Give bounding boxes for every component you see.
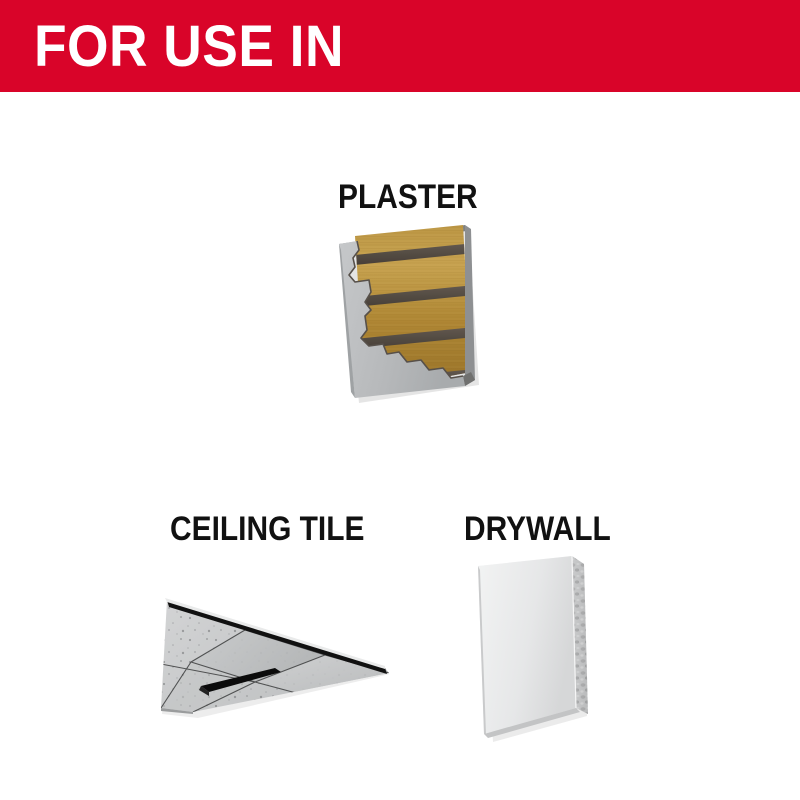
ceiling-tiles-group [135, 570, 400, 715]
ceiling-tile-svg [135, 570, 400, 715]
plaster-wall-svg [325, 220, 485, 400]
material-label-drywall: DRYWALL [464, 512, 611, 546]
header-banner: FOR USE IN [0, 0, 800, 92]
drywall-panel-svg [460, 550, 610, 745]
material-label-ceiling-tile: CEILING TILE [170, 512, 364, 546]
material-label-plaster: PLASTER [338, 180, 478, 214]
ceiling-tile-illustration [135, 570, 400, 715]
page-title: FOR USE IN [34, 18, 344, 76]
drywall-illustration [460, 550, 610, 745]
drywall-face [478, 556, 576, 734]
plaster-illustration [325, 220, 485, 400]
